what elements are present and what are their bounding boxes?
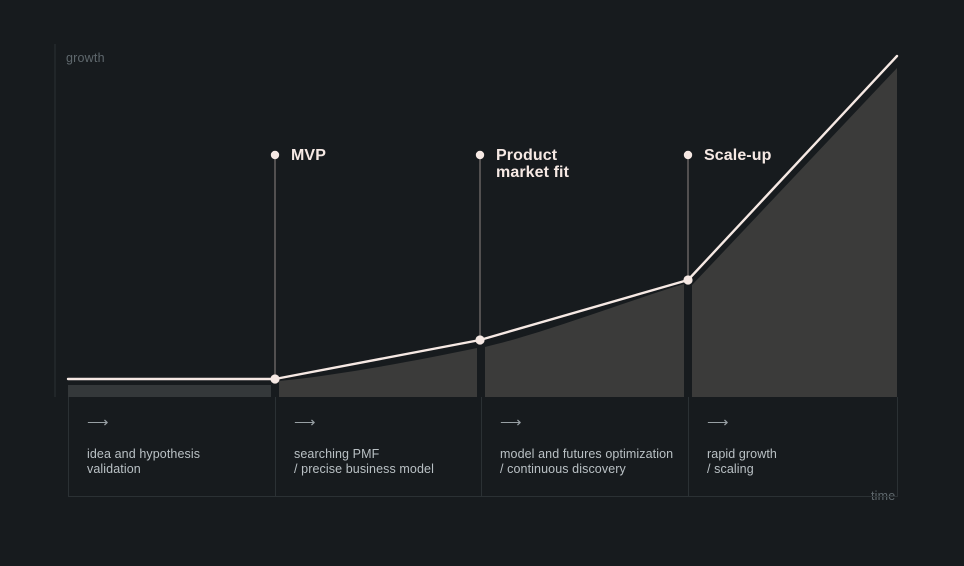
milestone-label-mvp[interactable]: MVP — [291, 147, 326, 164]
label-marker-group — [271, 151, 692, 159]
label-marker-scaleup — [684, 151, 692, 159]
stage-cell-2[interactable]: ⟶ searching PMF / precise business model — [275, 397, 481, 497]
stage-row: ⟶ idea and hypothesis validation ⟶ searc… — [68, 397, 898, 497]
stage-cell-4[interactable]: ⟶ rapid growth / scaling — [688, 397, 898, 497]
arrow-right-icon: ⟶ — [294, 415, 481, 430]
arrow-right-icon: ⟶ — [500, 415, 688, 430]
label-marker-pmf — [476, 151, 484, 159]
area-segment-1 — [68, 385, 271, 397]
arrow-right-icon: ⟶ — [707, 415, 897, 430]
curve-marker-mvp[interactable] — [270, 374, 279, 383]
milestone-label-pmf[interactable]: Product market fit — [496, 147, 569, 181]
curve-marker-pmf[interactable] — [475, 335, 484, 344]
stage-description: rapid growth / scaling — [707, 447, 897, 477]
stage-cell-1[interactable]: ⟶ idea and hypothesis validation — [68, 397, 275, 497]
y-axis-label: growth — [66, 51, 105, 65]
stage-description: model and futures optimization / continu… — [500, 447, 688, 477]
stage-cell-3[interactable]: ⟶ model and futures optimization / conti… — [481, 397, 688, 497]
milestone-label-scaleup[interactable]: Scale-up — [704, 147, 772, 164]
curve-marker-scaleup[interactable] — [683, 275, 692, 284]
area-segment-3 — [485, 284, 684, 397]
arrow-right-icon: ⟶ — [87, 415, 275, 430]
stage-description: searching PMF / precise business model — [294, 447, 481, 477]
stage-description: idea and hypothesis validation — [87, 447, 275, 477]
area-segment-4 — [692, 68, 897, 397]
label-marker-mvp — [271, 151, 279, 159]
chart-canvas: growth time MVP Product market fit Scale… — [0, 0, 964, 566]
